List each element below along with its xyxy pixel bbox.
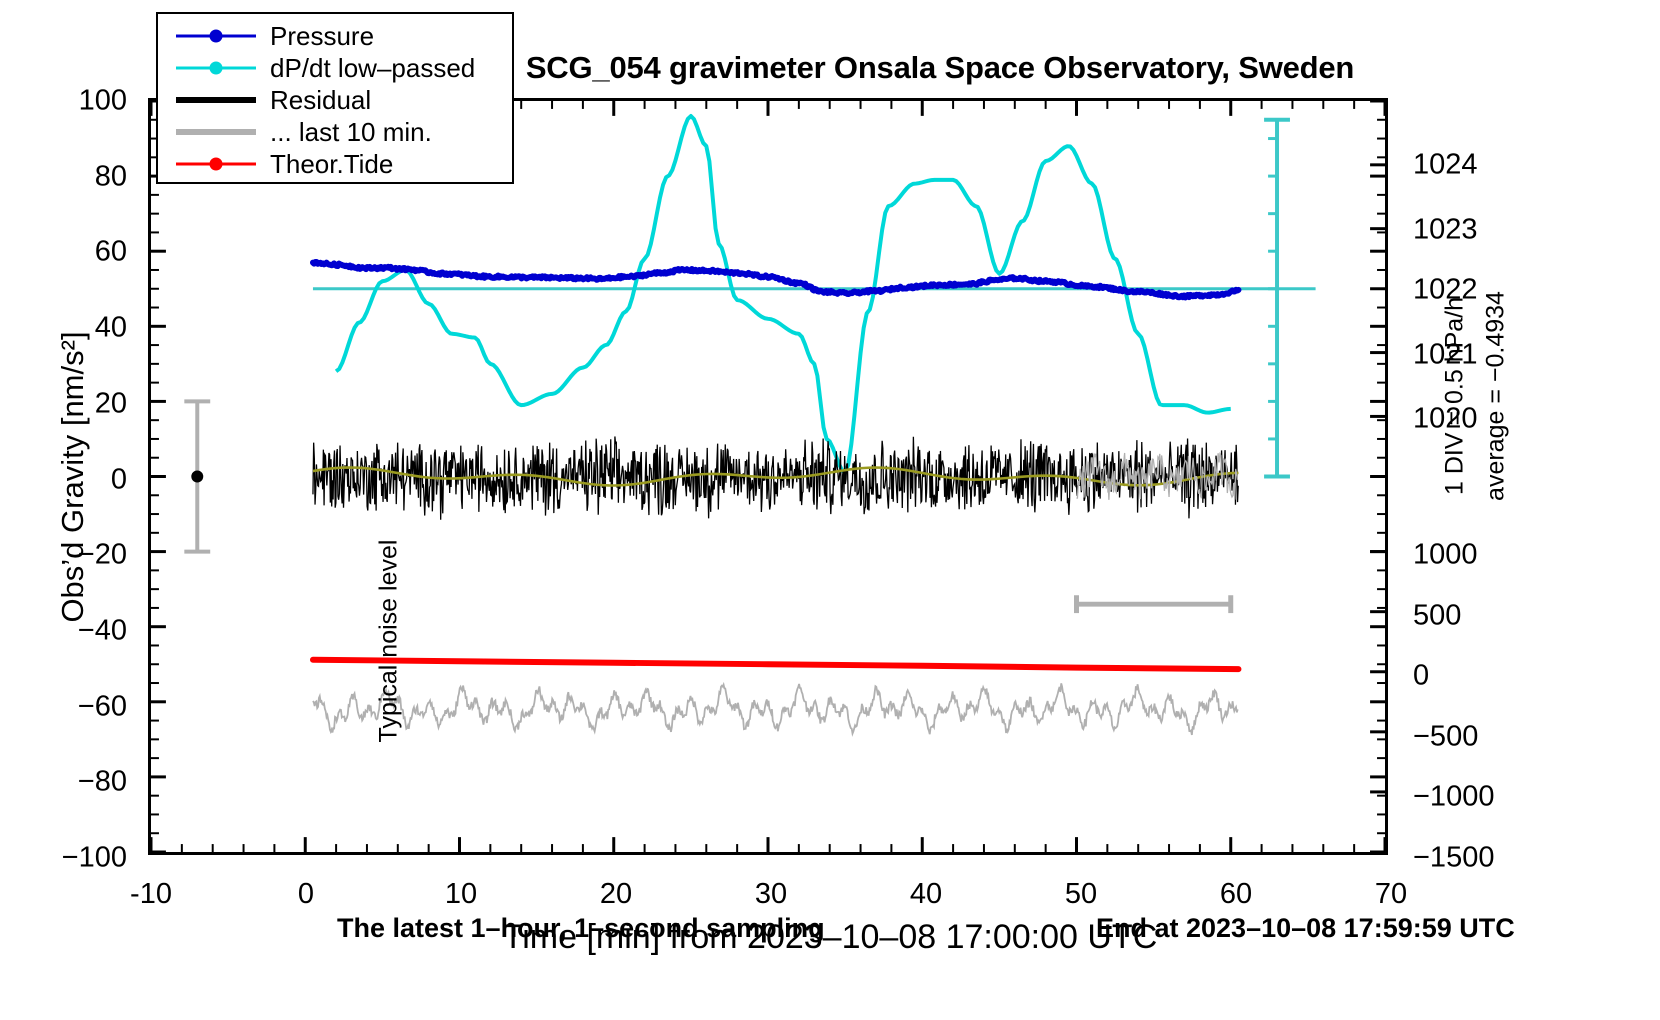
annotation-group (184, 120, 1290, 613)
y-tick-gravity: −40 (0, 614, 127, 647)
legend-item-1[interactable]: dP/dt low–passed (158, 52, 512, 84)
y-tick-tide: −500 (1413, 720, 1478, 753)
page-title: SCG_054 gravimeter Onsala Space Observat… (526, 50, 1354, 86)
scale-bar-div-label: 1 DIV = 0.5 hPa/h (1441, 297, 1470, 495)
x-tick: 60 (1220, 878, 1252, 911)
legend-swatch-icon (172, 148, 260, 180)
legend-item-4[interactable]: Theor.Tide (158, 148, 512, 180)
legend-swatch-icon (172, 116, 260, 148)
y-tick-tide: −1500 (1413, 842, 1494, 875)
y-tick-gravity: 20 (0, 387, 127, 420)
legend-label: Residual (270, 85, 371, 116)
y-tick-gravity: −20 (0, 539, 127, 572)
data-series-group (313, 116, 1316, 735)
y-tick-gravity: −60 (0, 690, 127, 723)
legend-item-0[interactable]: Pressure (158, 20, 512, 52)
y-tick-pressure: 1024 (1413, 149, 1478, 182)
x-tick: 10 (445, 878, 477, 911)
y-tick-gravity: 100 (0, 85, 127, 118)
x-tick: 0 (298, 878, 314, 911)
legend-swatch-icon (172, 84, 260, 116)
legend: PressuredP/dt low–passedResidual... last… (156, 12, 514, 184)
plot-area: Obs’d Gravity [nm/s²] Pressure [hPa] Tid… (148, 98, 1388, 855)
y-tick-gravity: 0 (0, 463, 127, 496)
chart-canvas (151, 101, 1385, 852)
legend-label: Pressure (270, 21, 374, 52)
y-tick-tide: 1000 (1413, 539, 1478, 572)
x-tick: 40 (910, 878, 942, 911)
scale-bar-average-label: average = −0.4934 (1482, 291, 1511, 501)
legend-swatch-icon (172, 20, 260, 52)
legend-item-2[interactable]: Residual (158, 84, 512, 116)
y-tick-gravity: 60 (0, 236, 127, 269)
footer-note-right: End at 2023–10–08 17:59:59 UTC (1096, 913, 1515, 944)
legend-label: ... last 10 min. (270, 117, 432, 148)
y-tick-gravity: 40 (0, 312, 127, 345)
legend-item-3[interactable]: ... last 10 min. (158, 116, 512, 148)
y-tick-gravity: −100 (0, 842, 127, 875)
y-tick-tide: 500 (1413, 599, 1461, 632)
typical-noise-level-label: Typical noise level (375, 540, 404, 743)
legend-swatch-icon (172, 52, 260, 84)
y-tick-pressure: 1023 (1413, 213, 1478, 246)
y-tick-gravity: 80 (0, 160, 127, 193)
x-tick: -10 (130, 878, 172, 911)
y-tick-gravity: −80 (0, 766, 127, 799)
x-tick: 20 (600, 878, 632, 911)
x-tick: 70 (1375, 878, 1407, 911)
y-tick-tide: 0 (1413, 660, 1429, 693)
legend-label: dP/dt low–passed (270, 53, 475, 84)
x-tick: 50 (1065, 878, 1097, 911)
x-tick: 30 (755, 878, 787, 911)
legend-label: Theor.Tide (270, 149, 393, 180)
footer-note-left: The latest 1–hour, 1–second sampling (337, 913, 825, 944)
y-tick-tide: −1000 (1413, 781, 1494, 814)
